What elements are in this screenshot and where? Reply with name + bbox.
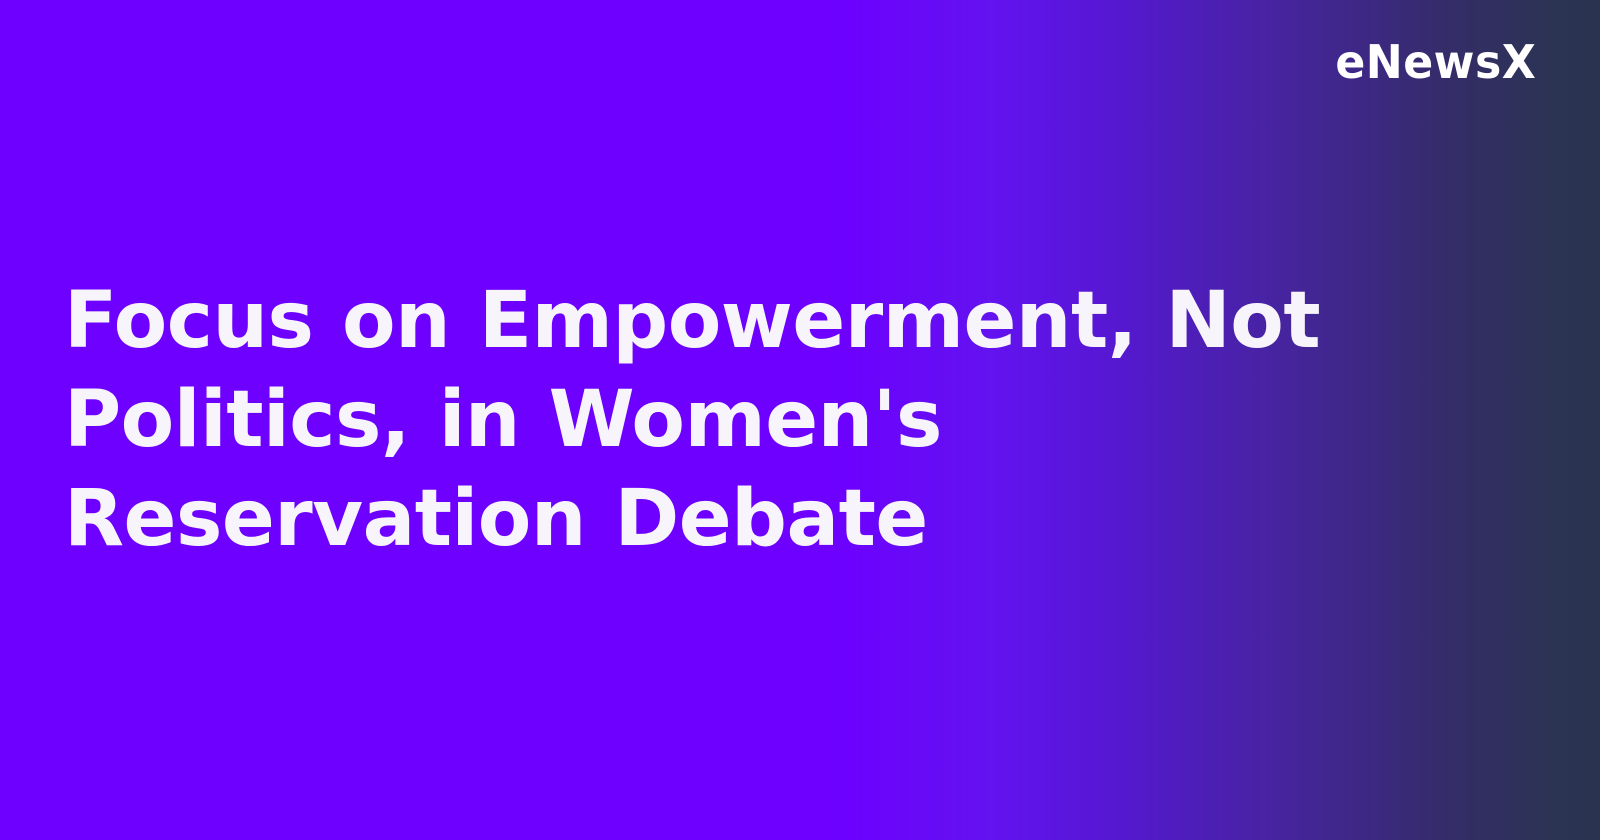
page-title: Focus on Empowerment, Not Politics, in W… xyxy=(64,272,1424,569)
news-headline-card: eNewsX Focus on Empowerment, Not Politic… xyxy=(0,0,1600,840)
headline-container: Focus on Empowerment, Not Politics, in W… xyxy=(64,0,1484,840)
